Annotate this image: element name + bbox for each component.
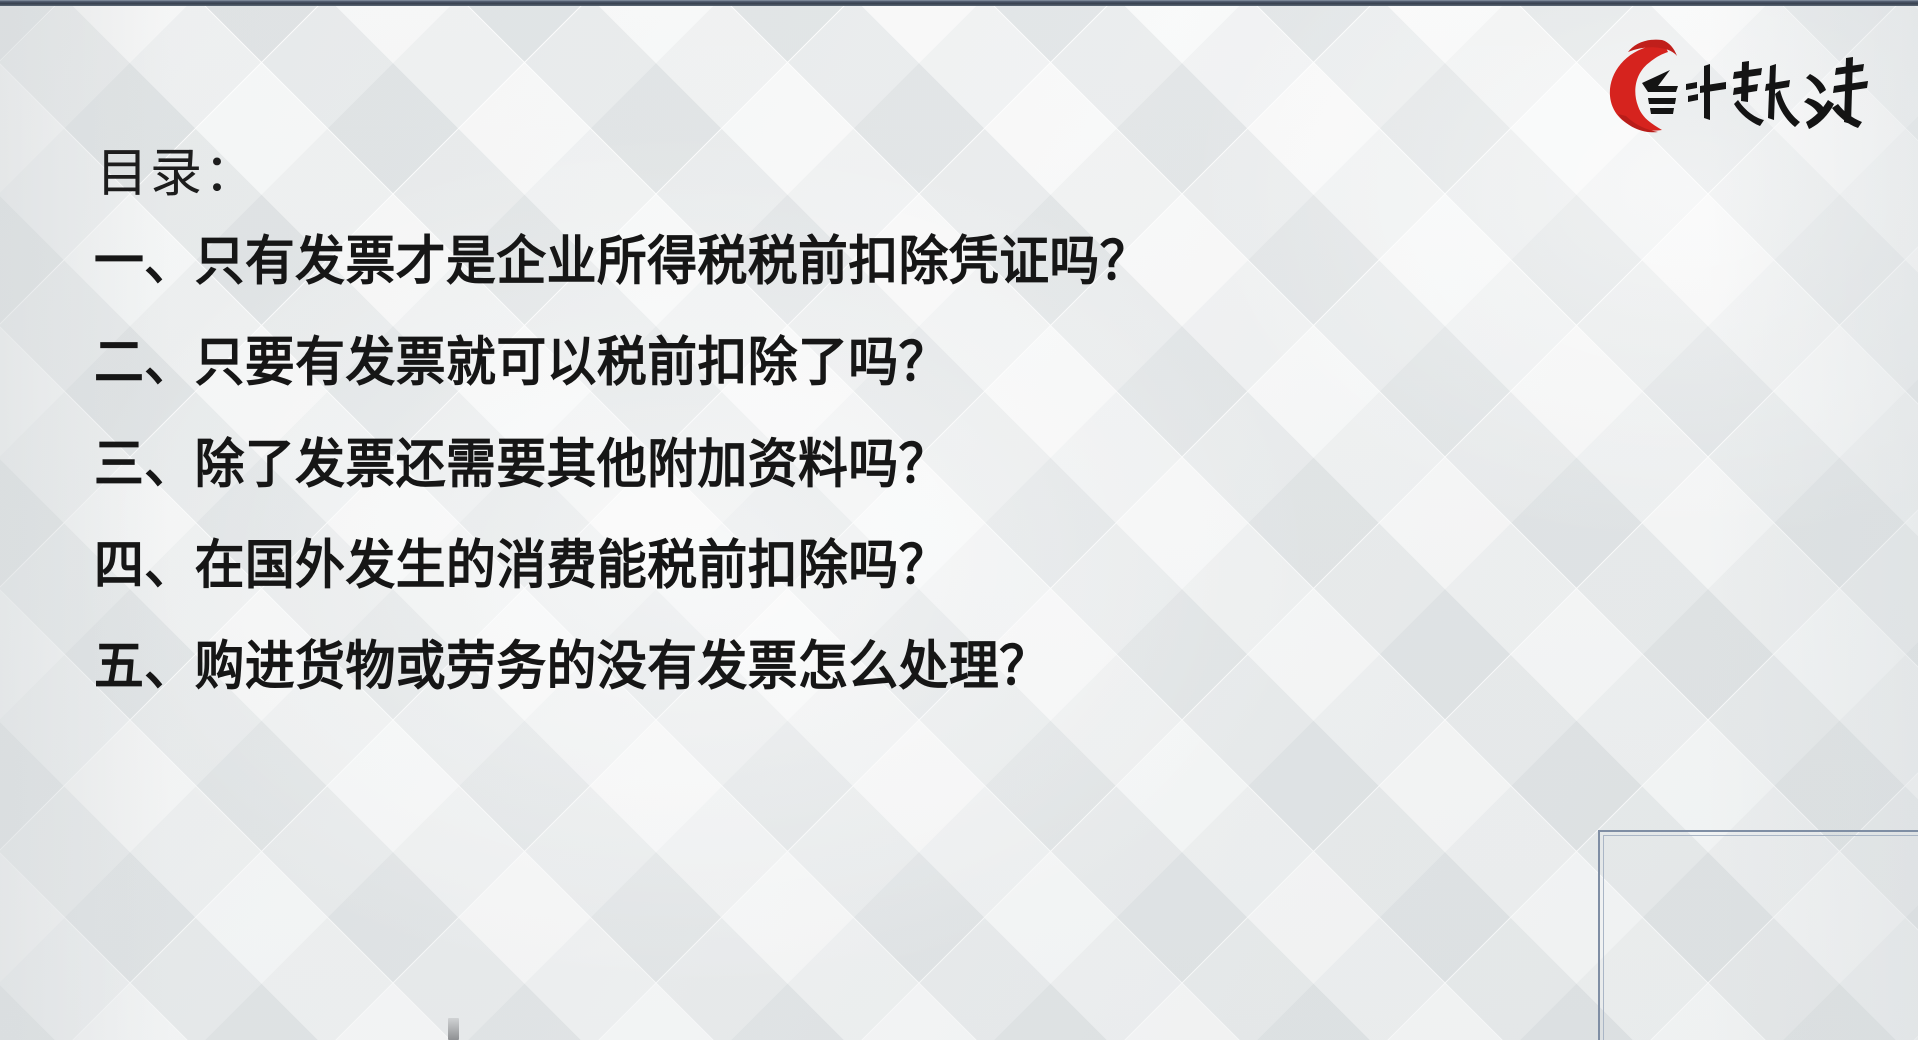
table-of-contents: 一、只有发票才是企业所得税税前扣除凭证吗？ 二、只要有发票就可以税前扣除了吗？ …: [94, 232, 1514, 697]
toc-item-4[interactable]: 四、在国外发生的消费能税前扣除吗？: [94, 536, 1429, 595]
toc-item-1[interactable]: 一、只有发票才是企业所得税税前扣除凭证吗？: [94, 232, 1429, 291]
page-title: 目录：: [96, 146, 258, 203]
red-brush-arc-icon: [1610, 40, 1677, 133]
top-accent-bar: [0, 0, 1918, 6]
brand-logo: [1598, 28, 1878, 138]
toc-item-3[interactable]: 三、除了发票还需要其他附加资料吗？: [94, 435, 1429, 494]
corner-decoration-frame: [1598, 830, 1918, 1040]
corner-decoration-frame-inner: [1603, 835, 1918, 1040]
toc-item-5[interactable]: 五、购进货物或劳务的没有发票怎么处理？: [94, 637, 1429, 696]
brand-wordmark: [1642, 57, 1868, 129]
toc-item-2[interactable]: 二、只要有发票就可以税前扣除了吗？: [94, 333, 1429, 392]
bottom-edge-marker: [448, 1018, 459, 1040]
slide-canvas: 目录： 一、只有发票才是企业所得税税前扣除凭证吗？ 二、只要有发票就可以税前扣除…: [0, 0, 1918, 1040]
